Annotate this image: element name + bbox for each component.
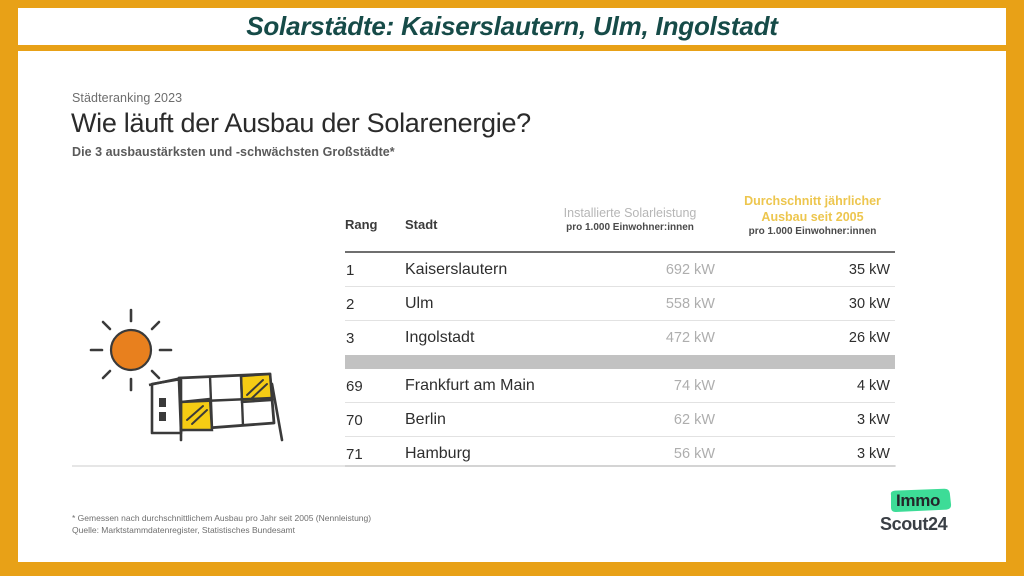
table-row: 70 Berlin 62 kW 3 kW	[345, 403, 895, 437]
cell-stadt: Hamburg	[405, 445, 471, 463]
column-header-solarleistung-main: Installierte Solarleistung	[545, 205, 715, 221]
cell-stadt: Kaiserslautern	[405, 261, 507, 279]
immoscout24-logo[interactable]: Immo Scout24	[880, 488, 970, 546]
column-header-ausbau-main-line2: Ausbau seit 2005	[730, 209, 895, 225]
footnote-line-2: Quelle: Marktstammdatenregister, Statist…	[72, 524, 371, 536]
infographic-card: Städteranking 2023 Wie läuft der Ausbau …	[18, 51, 1006, 562]
ranking-table: Rang Stadt Installierte Solarleistung pr…	[345, 193, 895, 471]
cell-rang: 2	[346, 296, 354, 313]
table-body-bottom: 69 Frankfurt am Main 74 kW 4 kW 70 Berli…	[345, 369, 895, 471]
cell-ausbau: 35 kW	[730, 262, 890, 278]
house-window-lower	[159, 412, 166, 421]
cell-solarleistung: 472 kW	[545, 330, 715, 346]
cell-solarleistung: 74 kW	[545, 378, 715, 394]
table-bottom-rule	[345, 465, 895, 467]
sun-disc	[111, 330, 151, 370]
cell-ausbau: 26 kW	[730, 330, 890, 346]
table-section-separator-band	[345, 355, 895, 369]
cell-rang: 70	[346, 412, 363, 429]
kicker-label: Städteranking 2023	[72, 91, 182, 105]
footnote: * Gemessen nach durchschnittlichem Ausba…	[72, 512, 371, 536]
table-row: 3 Ingolstadt 472 kW 26 kW	[345, 321, 895, 355]
cell-stadt: Berlin	[405, 411, 446, 429]
frame-top-border	[0, 0, 1024, 8]
headline: Wie läuft der Ausbau der Solarenergie?	[71, 108, 531, 139]
column-header-ausbau: Durchschnitt jährlicher Ausbau seit 2005…	[730, 193, 895, 239]
cell-ausbau: 3 kW	[730, 412, 890, 428]
cell-rang: 3	[346, 330, 354, 347]
logo-scout24-text: Scout24	[880, 514, 970, 535]
frame-bottom-border	[0, 562, 1024, 576]
cell-rang: 71	[346, 446, 363, 463]
table-header-row: Rang Stadt Installierte Solarleistung pr…	[345, 193, 895, 251]
cell-ausbau: 3 kW	[730, 446, 890, 462]
cell-solarleistung: 56 kW	[545, 446, 715, 462]
cell-rang: 1	[346, 262, 354, 279]
logo-badge: Immo	[887, 488, 953, 513]
infographic-root: Solarstädte: Kaiserslautern, Ulm, Ingols…	[0, 0, 1024, 576]
cell-rang: 69	[346, 378, 363, 395]
cell-stadt: Frankfurt am Main	[405, 377, 535, 395]
table-row: 2 Ulm 558 kW 30 kW	[345, 287, 895, 321]
logo-immo-text: Immo	[896, 491, 940, 511]
house-window-upper	[159, 398, 166, 407]
frame-right-border	[1006, 0, 1024, 576]
column-header-rang: Rang	[345, 217, 378, 232]
banner-title-bar: Solarstädte: Kaiserslautern, Ulm, Ingols…	[18, 8, 1006, 45]
frame-left-border	[0, 0, 18, 576]
cell-stadt: Ingolstadt	[405, 329, 474, 347]
column-header-ausbau-main-line1: Durchschnitt jährlicher	[730, 193, 895, 209]
cell-solarleistung: 692 kW	[545, 262, 715, 278]
cell-solarleistung: 62 kW	[545, 412, 715, 428]
cell-ausbau: 30 kW	[730, 296, 890, 312]
table-row: 1 Kaiserslautern 692 kW 35 kW	[345, 253, 895, 287]
table-row: 69 Frankfurt am Main 74 kW 4 kW	[345, 369, 895, 403]
panel-cell-highlight-left	[181, 399, 212, 430]
page-title: Solarstädte: Kaiserslautern, Ulm, Ingols…	[246, 11, 778, 42]
cell-solarleistung: 558 kW	[545, 296, 715, 312]
table-body-top: 1 Kaiserslautern 692 kW 35 kW 2 Ulm 558 …	[345, 253, 895, 355]
sun-and-solar-panel-illustration	[86, 306, 306, 446]
cell-ausbau: 4 kW	[730, 378, 890, 394]
column-header-ausbau-sub: pro 1.000 Einwohner:innen	[730, 225, 895, 239]
illustration-svg	[86, 306, 306, 446]
column-header-solarleistung: Installierte Solarleistung pro 1.000 Ein…	[545, 205, 715, 235]
subheadline: Die 3 ausbaustärksten und -schwächsten G…	[72, 145, 395, 159]
footnote-line-1: * Gemessen nach durchschnittlichem Ausba…	[72, 512, 371, 524]
column-header-solarleistung-sub: pro 1.000 Einwohner:innen	[545, 221, 715, 235]
cell-stadt: Ulm	[405, 295, 433, 313]
column-header-stadt: Stadt	[405, 217, 438, 232]
